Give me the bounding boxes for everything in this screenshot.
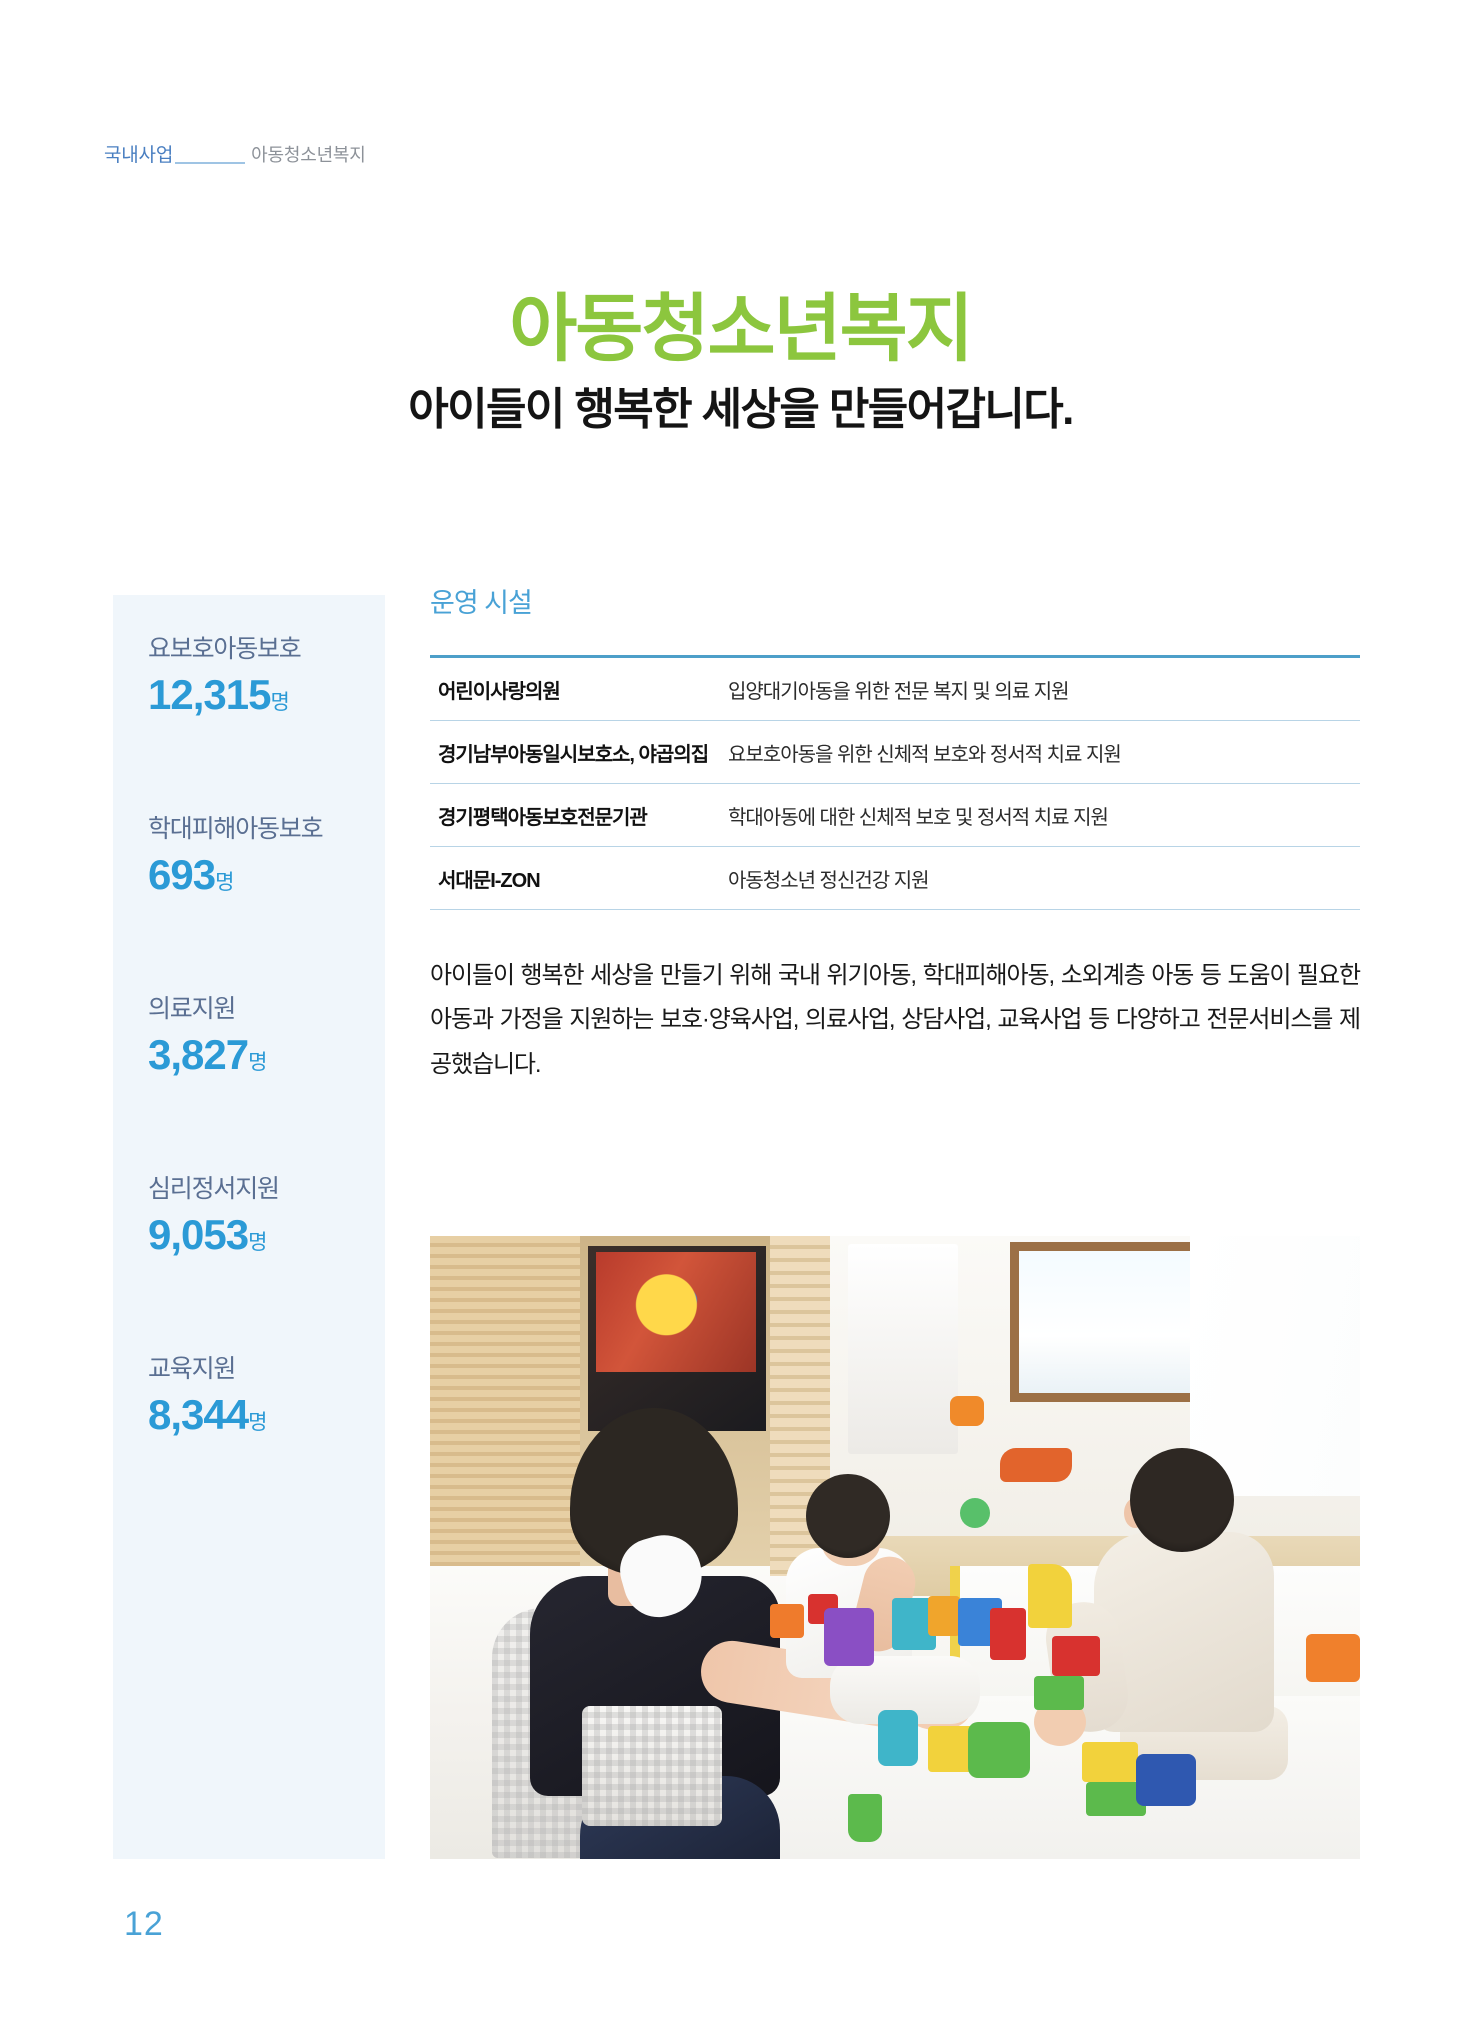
header-section: 아동청소년복지 <box>251 145 366 165</box>
stat-item-abused-children: 학대피해아동보호 693명 <box>148 817 388 896</box>
stat-value: 8,344명 <box>148 1394 388 1436</box>
photo-toddler-center-head <box>806 1474 890 1558</box>
header-rule <box>175 162 245 164</box>
program-photo <box>430 1236 1360 1859</box>
stat-unit: 명 <box>270 691 289 714</box>
stat-number: 9,053 <box>148 1211 248 1258</box>
stat-unit: 명 <box>248 1411 267 1434</box>
stat-item-psychological-support: 심리정서지원 9,053명 <box>148 1177 388 1256</box>
facility-description: 요보호아동을 위한 신체적 보호와 정서적 치료 지원 <box>728 721 1360 784</box>
photo-toy-block <box>878 1710 918 1766</box>
header-category: 국내사업 <box>104 145 173 166</box>
table-row: 경기남부아동일시보호소, 야곱의집 요보호아동을 위한 신체적 보호와 정서적 … <box>430 721 1360 784</box>
photo-toy-block <box>960 1498 990 1528</box>
table-row: 어린이사랑의원 입양대기아동을 위한 전문 복지 및 의료 지원 <box>430 657 1360 721</box>
photo-toy-dinosaur <box>1000 1448 1072 1482</box>
page-number: 12 <box>124 1905 164 1944</box>
page-title: 아동청소년복지 <box>0 290 1481 368</box>
stat-value: 12,315명 <box>148 674 388 716</box>
photo-window-glare <box>1190 1236 1360 1496</box>
table-row: 서대문I-ZON 아동청소년 정신건강 지원 <box>430 847 1360 910</box>
stat-value: 693명 <box>148 854 388 896</box>
photo-toy-block <box>968 1722 1030 1778</box>
title-block: 아동청소년복지 아이들이 행복한 세상을 만들어갑니다. <box>0 290 1481 434</box>
stat-item-education-support: 교육지원 8,344명 <box>148 1357 388 1436</box>
photo-toy-cup <box>848 1794 882 1842</box>
running-header: 국내사업아동청소년복지 <box>104 140 366 167</box>
photo-air-conditioner <box>848 1244 958 1454</box>
stat-unit: 명 <box>248 1051 267 1074</box>
stat-label: 의료지원 <box>148 997 388 1022</box>
photo-toy-block <box>950 1396 984 1426</box>
stat-value: 3,827명 <box>148 1034 388 1076</box>
stat-number: 12,315 <box>148 671 270 718</box>
stat-item-protected-children: 요보호아동보호 12,315명 <box>148 637 388 716</box>
stat-number: 3,827 <box>148 1031 248 1078</box>
photo-toy-block <box>1082 1742 1138 1782</box>
photo-toy-block <box>1034 1676 1084 1710</box>
stats-sidebar: 요보호아동보호 12,315명 학대피해아동보호 693명 의료지원 3,827… <box>113 595 385 1859</box>
photo-tv-screen-image <box>596 1252 756 1372</box>
photo-toy-block <box>928 1596 960 1636</box>
stat-label: 요보호아동보호 <box>148 637 388 662</box>
facility-name: 서대문I-ZON <box>430 847 728 910</box>
photo-toy-block <box>770 1604 804 1638</box>
photo-toy-block <box>1136 1754 1196 1806</box>
stat-label: 학대피해아동보호 <box>148 817 388 842</box>
facilities-heading: 운영 시설 <box>430 590 1360 617</box>
photo-toy-block <box>824 1608 874 1666</box>
facility-description: 아동청소년 정신건강 지원 <box>728 847 1360 910</box>
stat-unit: 명 <box>215 871 234 894</box>
facility-description: 학대아동에 대한 신체적 보호 및 정서적 치료 지원 <box>728 784 1360 847</box>
stat-number: 8,344 <box>148 1391 248 1438</box>
facility-name: 경기남부아동일시보호소, 야곱의집 <box>430 721 728 784</box>
photo-window <box>1010 1242 1210 1402</box>
stat-label: 교육지원 <box>148 1357 388 1382</box>
stat-unit: 명 <box>248 1231 267 1254</box>
content-column: 운영 시설 어린이사랑의원 입양대기아동을 위한 전문 복지 및 의료 지원 경… <box>430 590 1360 1111</box>
facilities-table: 어린이사랑의원 입양대기아동을 위한 전문 복지 및 의료 지원 경기남부아동일… <box>430 655 1360 910</box>
stat-number: 693 <box>148 851 215 898</box>
photo-louvered-wall <box>430 1236 580 1566</box>
photo-caregiver-apron-panel <box>582 1706 722 1826</box>
body-paragraph: 아이들이 행복한 세상을 만들기 위해 국내 위기아동, 학대피해아동, 소외계… <box>430 954 1360 1087</box>
facility-name: 경기평택아동보호전문기관 <box>430 784 728 847</box>
photo-toy-block <box>1052 1636 1100 1676</box>
photo-toddler-right-head <box>1130 1448 1234 1552</box>
table-row: 경기평택아동보호전문기관 학대아동에 대한 신체적 보호 및 정서적 치료 지원 <box>430 784 1360 847</box>
photo-toy-block <box>990 1608 1026 1660</box>
photo-toy-block <box>1306 1634 1360 1682</box>
page-subtitle: 아이들이 행복한 세상을 만들어갑니다. <box>0 386 1481 434</box>
stat-value: 9,053명 <box>148 1214 388 1256</box>
facility-description: 입양대기아동을 위한 전문 복지 및 의료 지원 <box>728 657 1360 721</box>
facility-name: 어린이사랑의원 <box>430 657 728 721</box>
photo-toy-block <box>1028 1564 1072 1628</box>
stat-item-medical-support: 의료지원 3,827명 <box>148 997 388 1076</box>
stat-label: 심리정서지원 <box>148 1177 388 1202</box>
